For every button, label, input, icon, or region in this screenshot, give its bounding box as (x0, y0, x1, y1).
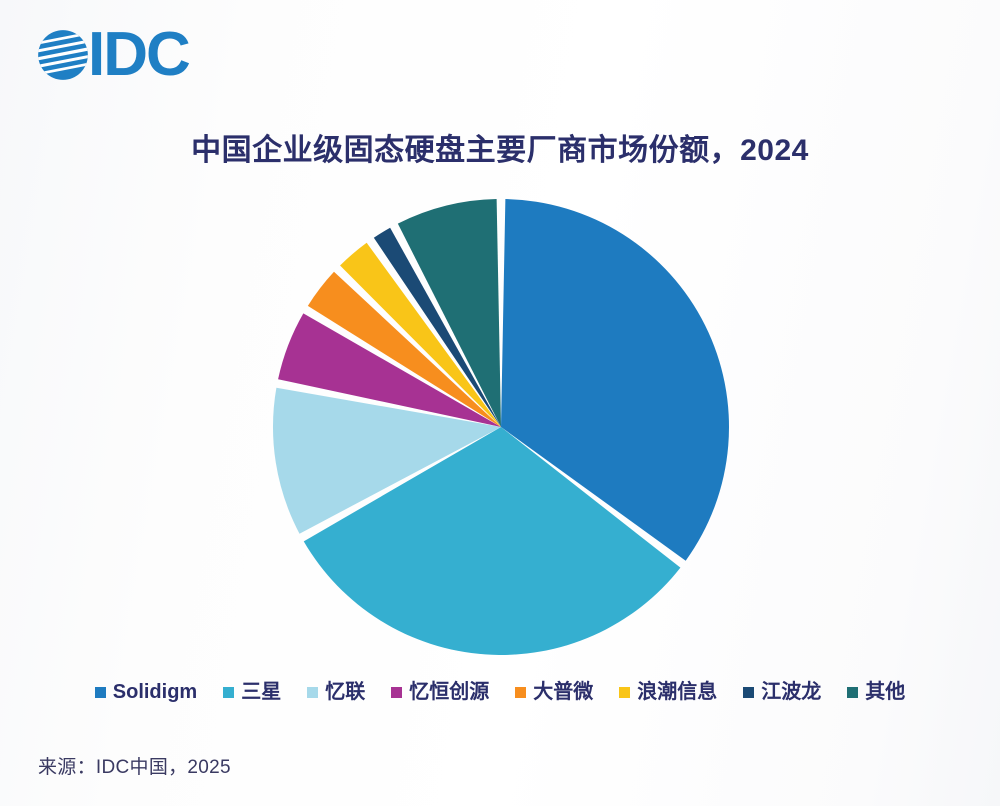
legend-swatch-icon (223, 687, 234, 698)
legend-item[interactable]: 忆联 (307, 682, 365, 702)
legend-item[interactable]: 大普微 (515, 682, 593, 702)
legend-item-label: 其他 (865, 682, 905, 702)
pie-chart (0, 0, 1000, 700)
legend-item-label: 三星 (241, 682, 281, 702)
legend-swatch-icon (847, 687, 858, 698)
legend-item-label: 忆恒创源 (409, 682, 489, 702)
legend-swatch-icon (95, 687, 106, 698)
legend-item-label: 忆联 (325, 682, 365, 702)
legend-swatch-icon (619, 687, 630, 698)
legend-item-label: 江波龙 (761, 682, 821, 702)
pie-chart-svg (0, 0, 1000, 700)
legend-item-label: 浪潮信息 (637, 682, 717, 702)
legend-item[interactable]: 其他 (847, 682, 905, 702)
legend-item[interactable]: Solidigm (95, 682, 197, 702)
legend-swatch-icon (515, 687, 526, 698)
legend-item[interactable]: 浪潮信息 (619, 682, 717, 702)
pie-slice-group (273, 199, 729, 655)
slide-canvas: IDC 中国企业级固态硬盘主要厂商市场份额，2024 Solidigm三星忆联忆… (0, 0, 1000, 806)
legend-swatch-icon (743, 687, 754, 698)
legend-item-label: 大普微 (533, 682, 593, 702)
source-note: 来源：IDC中国，2025 (38, 752, 231, 779)
legend-item[interactable]: 江波龙 (743, 682, 821, 702)
legend-swatch-icon (391, 687, 402, 698)
legend-item-label: Solidigm (113, 682, 197, 702)
legend-item[interactable]: 忆恒创源 (391, 682, 489, 702)
legend-swatch-icon (307, 687, 318, 698)
legend-item[interactable]: 三星 (223, 682, 281, 702)
chart-legend: Solidigm三星忆联忆恒创源大普微浪潮信息江波龙其他 (0, 682, 1000, 702)
